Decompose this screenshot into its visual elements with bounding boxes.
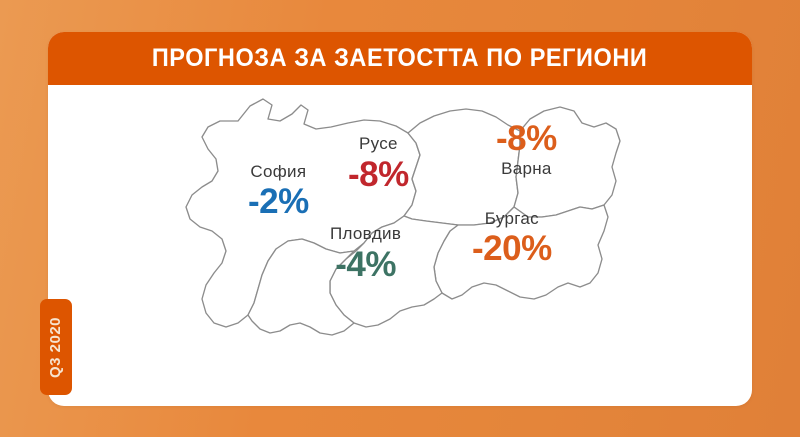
- page-title: ПРОГНОЗА ЗА ЗАЕТОСТТА ПО РЕГИОНИ: [152, 44, 648, 73]
- region-value-sofia: -2%: [248, 184, 309, 219]
- region-value-plovdiv: -4%: [330, 247, 401, 282]
- header-banner: ПРОГНОЗА ЗА ЗАЕТОСТТА ПО РЕГИОНИ: [48, 32, 752, 85]
- region-value-ruse: -8%: [348, 157, 409, 192]
- region-label-ruse: Русе: [348, 135, 409, 152]
- map-container: София -2% Русе -8% Пловдив -4% -8% Варна…: [48, 85, 752, 406]
- infographic-card: ПРОГНОЗА ЗА ЗАЕТОСТТА ПО РЕГИОНИ София -…: [48, 32, 752, 406]
- region-label-burgas: Бургас: [472, 210, 552, 227]
- region-label-varna: Варна: [496, 160, 557, 177]
- quarter-tab-label: Q3 2020: [48, 316, 65, 377]
- region-annotation-plovdiv[interactable]: Пловдив -4%: [330, 225, 401, 282]
- quarter-tab[interactable]: Q3 2020: [40, 299, 72, 395]
- bulgaria-map-svg: [168, 83, 638, 393]
- region-annotation-ruse[interactable]: Русе -8%: [348, 135, 409, 192]
- region-label-sofia: София: [248, 163, 309, 180]
- region-annotation-burgas[interactable]: Бургас -20%: [472, 210, 552, 266]
- region-annotation-varna[interactable]: -8% Варна: [496, 121, 557, 177]
- region-value-varna: -8%: [496, 121, 557, 156]
- region-label-plovdiv: Пловдив: [330, 225, 401, 242]
- region-value-burgas: -20%: [472, 231, 552, 266]
- region-annotation-sofia[interactable]: София -2%: [248, 163, 309, 219]
